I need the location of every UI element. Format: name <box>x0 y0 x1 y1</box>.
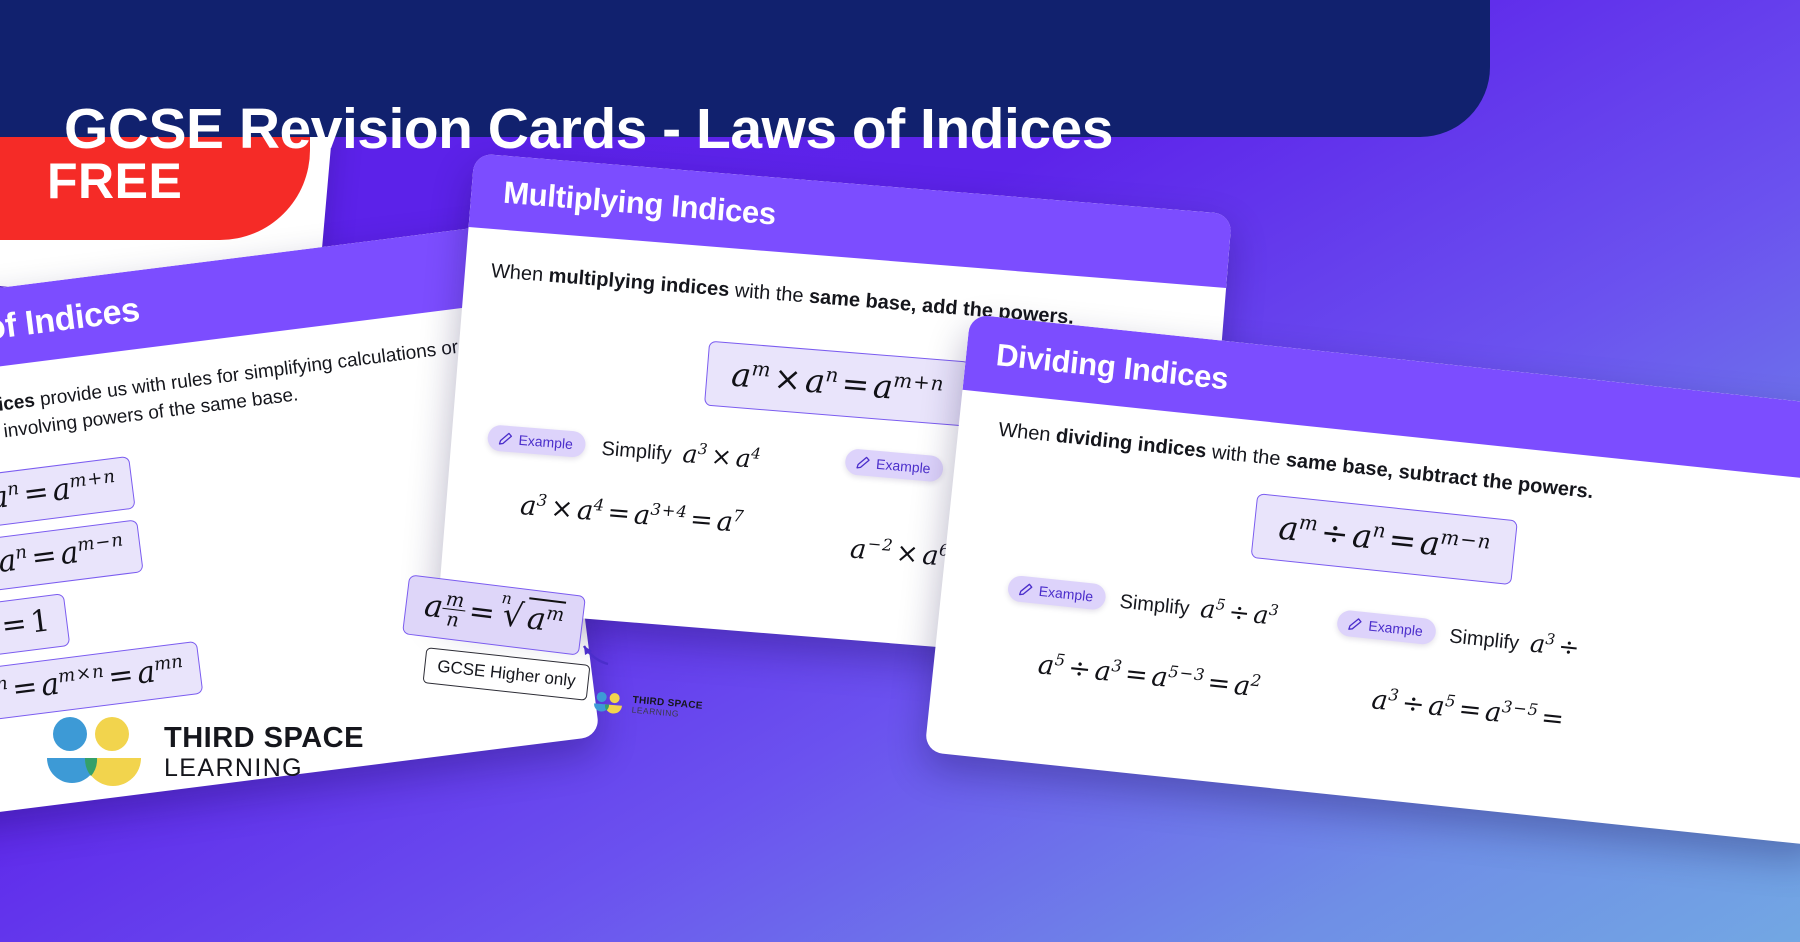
page-title: GCSE Revision Cards - Laws of Indices <box>64 96 1113 162</box>
brand-logo-mark-icon <box>40 712 148 796</box>
card-title-dividing: Dividing Indices <box>994 337 1229 397</box>
example-pill-1-label: Example <box>518 432 574 452</box>
brand-logo-text: THIRD SPACE LEARNING <box>164 724 364 784</box>
brand-logo: THIRD SPACE LEARNING <box>40 712 364 796</box>
brand-name-main: THIRD SPACE <box>164 724 364 753</box>
formula-chip-multiplying-rule: am×an=am+n <box>704 341 970 427</box>
pencil-icon <box>855 454 871 470</box>
div-intro-p4: same base, subtract the powers. <box>1285 449 1595 503</box>
example-4-question: Simplify a3÷ <box>1448 619 1585 662</box>
mult-intro-p3: with the <box>728 279 810 307</box>
example-3-question: Simplify a5÷a3 <box>1118 585 1279 631</box>
example-pill-3-label: Example <box>1038 583 1094 605</box>
card-dividing-indices: Dividing Indices When dividing indices w… <box>924 314 1800 846</box>
example-pill-3: Example <box>1007 575 1108 611</box>
card-title-laws: Laws of Indices <box>0 290 142 360</box>
card-title-multiplying: Multiplying Indices <box>502 175 777 233</box>
pencil-icon <box>1347 616 1363 632</box>
formula-chip-dividing-rule: am÷an=am−n <box>1250 494 1517 586</box>
mult-intro-p2: multiplying indices <box>548 265 730 301</box>
example-4-working: a3÷a5=a3−5= <box>1370 683 1569 735</box>
dividing-example-2-row: Example Simplify a3÷ <box>1336 608 1585 663</box>
poster-canvas: Laws of Indices Laws of indices provide … <box>0 0 1800 942</box>
example-pill-1: Example <box>487 424 587 458</box>
example-3-working: a5÷a3=a5−3=a2 <box>1037 648 1263 703</box>
mini-logo-mark-icon <box>591 689 626 718</box>
dividing-example-1-row: Example Simplify a5÷a3 <box>1007 573 1280 631</box>
mult-intro-p1: When <box>490 260 549 287</box>
pencil-icon <box>497 431 513 447</box>
example-1-question: Simplify a3×a4 <box>601 432 762 474</box>
div-intro-p1: When <box>997 419 1057 447</box>
mini-logo-text: THIRD SPACE LEARNING <box>631 696 703 722</box>
mini-brand-logo: THIRD SPACE LEARNING <box>591 689 703 725</box>
div-intro-p2: dividing indices <box>1055 425 1208 463</box>
pencil-icon <box>1017 581 1033 597</box>
example-pill-4: Example <box>1336 609 1437 645</box>
example-pill-4-label: Example <box>1368 618 1424 640</box>
free-badge-label: FREE <box>47 152 182 210</box>
div-intro-p3: with the <box>1205 441 1287 471</box>
example-pill-2-label: Example <box>876 456 932 477</box>
brand-name-sub: LEARNING <box>164 753 364 784</box>
